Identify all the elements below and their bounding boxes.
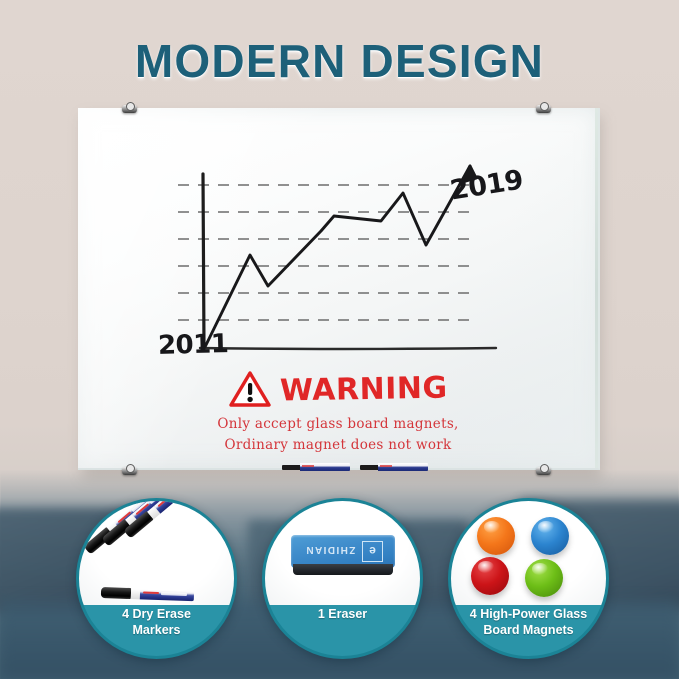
warning-details: Only accept glass board magnets, Ordinar…	[78, 414, 598, 456]
headline-title: MODERN DESIGN	[0, 34, 679, 88]
chart-gridlines	[178, 185, 478, 320]
magnet-orange	[477, 517, 515, 555]
tray-marker	[282, 463, 350, 471]
accessory-card-magnets: 4 High-Power Glass Board Magnets	[448, 498, 609, 659]
product-image: MODERN DESIGN	[0, 0, 679, 679]
card-label-line1: 1 Eraser	[273, 607, 412, 623]
warning-triangle-icon	[229, 370, 271, 408]
clip-screw	[126, 102, 135, 111]
eraser-brand-text: ZHIDIAN	[305, 544, 355, 555]
warning-heading-row: WARNING	[78, 370, 598, 408]
card-label-line1: 4 Dry Erase	[87, 607, 226, 623]
marker-stripe	[302, 465, 314, 467]
warning-block: WARNING Only accept glass board magnets,…	[78, 370, 598, 456]
marker-cap	[360, 465, 378, 470]
tray-marker	[360, 463, 428, 471]
magnet-red	[471, 557, 509, 595]
magnet-green	[525, 559, 563, 597]
eraser-logo-icon: e	[362, 541, 383, 562]
marker-cap	[101, 587, 131, 599]
clip-screw	[126, 464, 135, 473]
chart-x-axis	[200, 348, 496, 349]
marker-ring	[131, 589, 140, 599]
mounting-clip-bottom-right	[536, 464, 551, 475]
magnets-photo	[451, 501, 606, 605]
card-label-line1: 4 High-Power Glass	[459, 607, 598, 623]
markers-photo	[79, 501, 234, 605]
mounting-clip-top-left	[122, 102, 137, 113]
dry-erase-marker	[101, 587, 201, 601]
accessory-card-eraser: ZHIDIAN e 1 Eraser	[262, 498, 423, 659]
accessory-card-markers: 4 Dry Erase Markers	[76, 498, 237, 659]
whiteboard-eraser: ZHIDIAN e	[291, 535, 395, 581]
chart-label-start: 2011	[158, 329, 229, 361]
magnet-blue	[531, 517, 569, 555]
chart-y-axis	[203, 174, 204, 348]
tray-markers	[282, 463, 432, 473]
clip-screw	[540, 464, 549, 473]
board-surface: 2011 2019 WARNING Only accept glass boar…	[78, 108, 600, 470]
accessory-cards: 4 Dry Erase Markers ZHIDIAN e 1 Eraser	[0, 492, 679, 662]
warning-title: WARNING	[279, 370, 447, 408]
eraser-felt-pad	[293, 564, 393, 575]
card-label-magnets: 4 High-Power Glass Board Magnets	[451, 607, 606, 638]
card-label-line2: Markers	[87, 623, 226, 639]
clip-screw	[540, 102, 549, 111]
marker-cap	[282, 465, 300, 470]
mounting-clip-top-right	[536, 102, 551, 113]
card-label-eraser: 1 Eraser	[265, 607, 420, 623]
card-label-line2: Board Magnets	[459, 623, 598, 639]
glass-whiteboard: 2011 2019 WARNING Only accept glass boar…	[78, 108, 602, 474]
marker-stripe	[380, 465, 392, 467]
marker-stripe	[143, 591, 159, 594]
eraser-photo: ZHIDIAN e	[265, 501, 420, 605]
warning-line-1: Only accept glass board magnets,	[78, 414, 598, 435]
mounting-clip-bottom-left	[122, 464, 137, 475]
card-label-markers: 4 Dry Erase Markers	[79, 607, 234, 638]
warning-line-2: Ordinary magnet does not work	[78, 435, 598, 456]
